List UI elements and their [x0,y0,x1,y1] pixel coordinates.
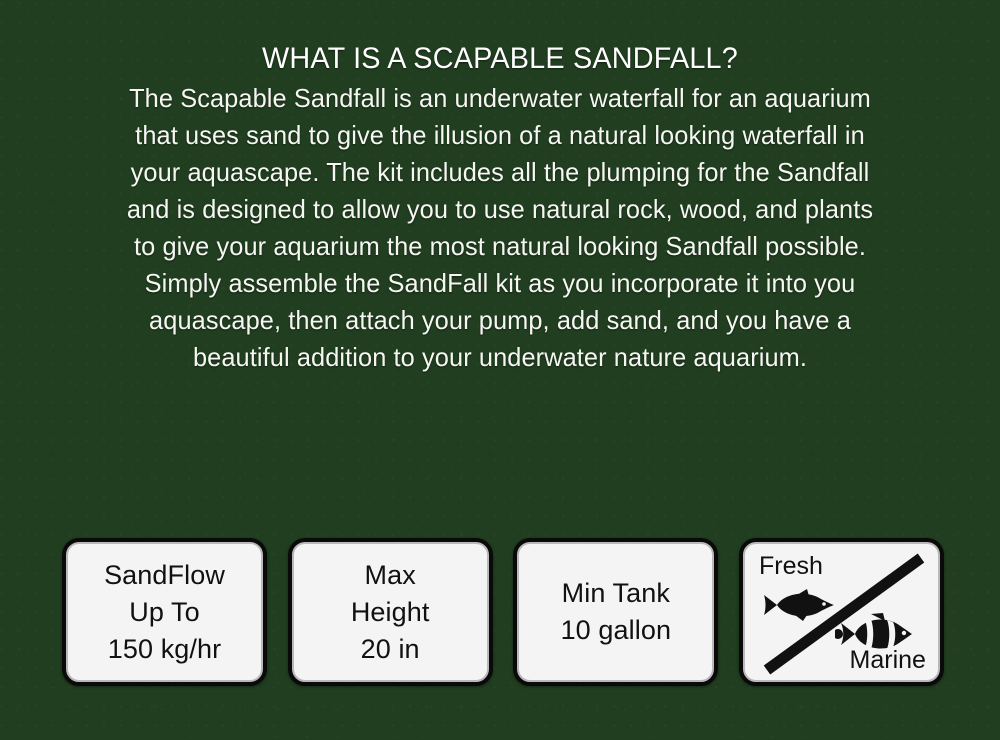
spec-badge-line: Up To [129,594,200,631]
spec-badge-sandflow: SandFlow Up To 150 kg/hr [62,538,267,686]
description-line: your aquascape. The kit includes all the… [81,154,920,191]
description-line: beautiful addition to your underwater na… [81,339,920,376]
spec-badge-face: Fresh Marine [743,542,940,682]
spec-badge-face: Min Tank 10 gallon [517,542,714,682]
page-title: WHAT IS A SCAPABLE SANDFALL? [20,40,980,78]
description-line: The Scapable Sandfall is an underwater w… [81,80,920,117]
description-line: that uses sand to give the illusion of a… [81,117,920,154]
spec-badge-line: 20 in [361,631,420,668]
spec-badge-max-height: Max Height 20 in [288,538,493,686]
spec-badge-water-type: Fresh Marine [739,538,944,686]
freshwater-fish-icon [763,588,835,622]
description-line: and is designed to allow you to use natu… [81,191,920,228]
water-type-graphic: Fresh Marine [745,544,938,680]
description-line: to give your aquarium the most natural l… [81,228,920,265]
spec-badge-line: SandFlow [104,557,225,594]
description-block: WHAT IS A SCAPABLE SANDFALL? The Scapabl… [0,40,1000,376]
clownfish-icon [835,612,913,656]
spec-badge-line: Min Tank [562,575,670,612]
spec-badge-line: 10 gallon [561,612,672,649]
spec-badge-min-tank: Min Tank 10 gallon [513,538,718,686]
spec-badge-line: Height [351,594,430,631]
spec-badge-line: 150 kg/hr [108,631,221,668]
product-info-panel: WHAT IS A SCAPABLE SANDFALL? The Scapabl… [0,0,1000,740]
spec-badge-face: SandFlow Up To 150 kg/hr [66,542,263,682]
spec-badge-line: Max [365,557,416,594]
description-paragraph: The Scapable Sandfall is an underwater w… [0,80,1000,376]
description-line: Simply assemble the SandFall kit as you … [81,265,920,302]
spec-badge-face: Max Height 20 in [292,542,489,682]
spec-badge-row: SandFlow Up To 150 kg/hr Max Height 20 i… [62,538,944,686]
description-line: aquascape, then attach your pump, add sa… [81,302,920,339]
